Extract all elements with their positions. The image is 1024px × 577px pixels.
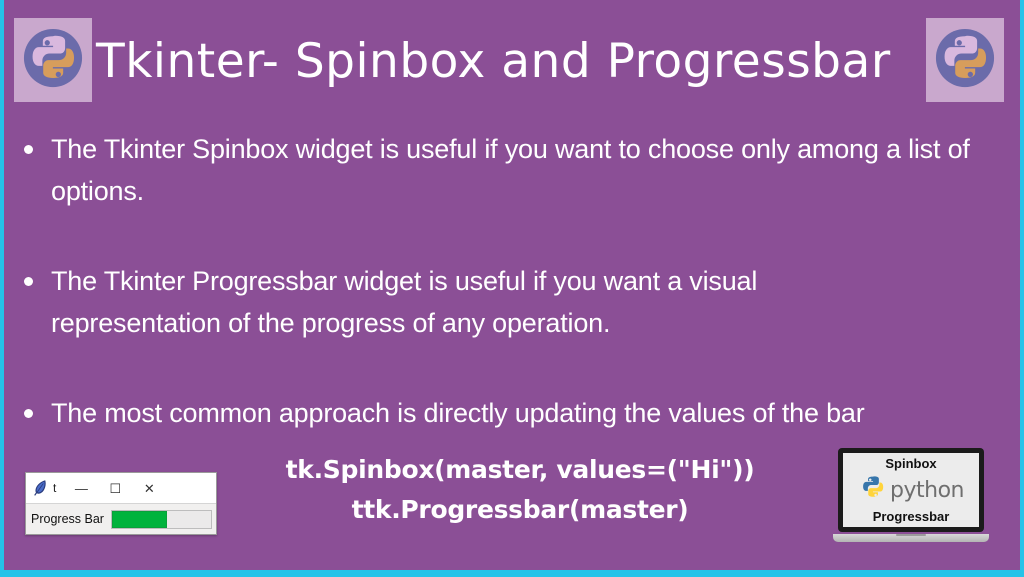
maximize-button[interactable]: ☐ <box>98 473 132 504</box>
python-brand-row: python <box>858 475 964 507</box>
list-item: The Tkinter Spinbox widget is useful if … <box>14 128 1014 212</box>
laptop-caption-spinbox: Spinbox <box>885 456 936 472</box>
laptop-base <box>833 534 989 542</box>
bullet-dot-icon <box>24 145 33 154</box>
code-snippet: tk.Spinbox(master, values=("Hi")) ttk.Pr… <box>250 450 790 530</box>
window-body: Progress Bar <box>26 504 216 534</box>
bullet-dot-icon <box>24 277 33 286</box>
laptop-illustration: Spinbox python Progressbar <box>833 448 989 542</box>
slide: Tkinter- Spinbox and Progressbar The Tki… <box>0 0 1024 577</box>
window-titlebar: t — ☐ ✕ <box>26 473 216 504</box>
tkinter-feather-icon <box>32 479 48 497</box>
list-item-label: The most common approach is directly upd… <box>51 392 1014 434</box>
code-line-progressbar: ttk.Progressbar(master) <box>250 490 790 530</box>
bullet-list: The Tkinter Spinbox widget is useful if … <box>14 128 1014 456</box>
progress-bar-label: Progress Bar <box>31 512 104 526</box>
slide-header: Tkinter- Spinbox and Progressbar <box>0 0 1024 118</box>
python-logo-icon <box>934 27 996 93</box>
minimize-button[interactable]: — <box>64 473 98 504</box>
window-title: t <box>53 481 56 495</box>
python-logo-icon <box>22 27 84 93</box>
laptop-screen: Spinbox python Progressbar <box>843 453 979 527</box>
laptop-caption-progressbar: Progressbar <box>873 509 950 525</box>
laptop-base-notch <box>896 534 926 536</box>
list-item: The most common approach is directly upd… <box>14 392 1014 434</box>
code-line-spinbox: tk.Spinbox(master, values=("Hi")) <box>250 450 790 490</box>
python-logo-icon <box>858 474 888 508</box>
list-item-label: The Tkinter Spinbox widget is useful if … <box>51 128 1014 212</box>
python-wordmark: python <box>890 478 964 504</box>
python-logo-badge-left <box>14 18 92 102</box>
python-logo-badge-right <box>926 18 1004 102</box>
progress-bar[interactable] <box>111 510 212 529</box>
list-item: The Tkinter Progressbar widget is useful… <box>14 260 1014 344</box>
tkinter-window-mockup: t — ☐ ✕ Progress Bar <box>25 472 217 535</box>
close-button[interactable]: ✕ <box>132 473 166 504</box>
accent-border-bottom <box>0 570 1024 577</box>
list-item-label: The Tkinter Progressbar widget is useful… <box>51 260 891 344</box>
bullet-dot-icon <box>24 409 33 418</box>
page-title: Tkinter- Spinbox and Progressbar <box>96 22 916 102</box>
progress-bar-fill <box>112 511 167 528</box>
laptop-screen-frame: Spinbox python Progressbar <box>838 448 984 532</box>
